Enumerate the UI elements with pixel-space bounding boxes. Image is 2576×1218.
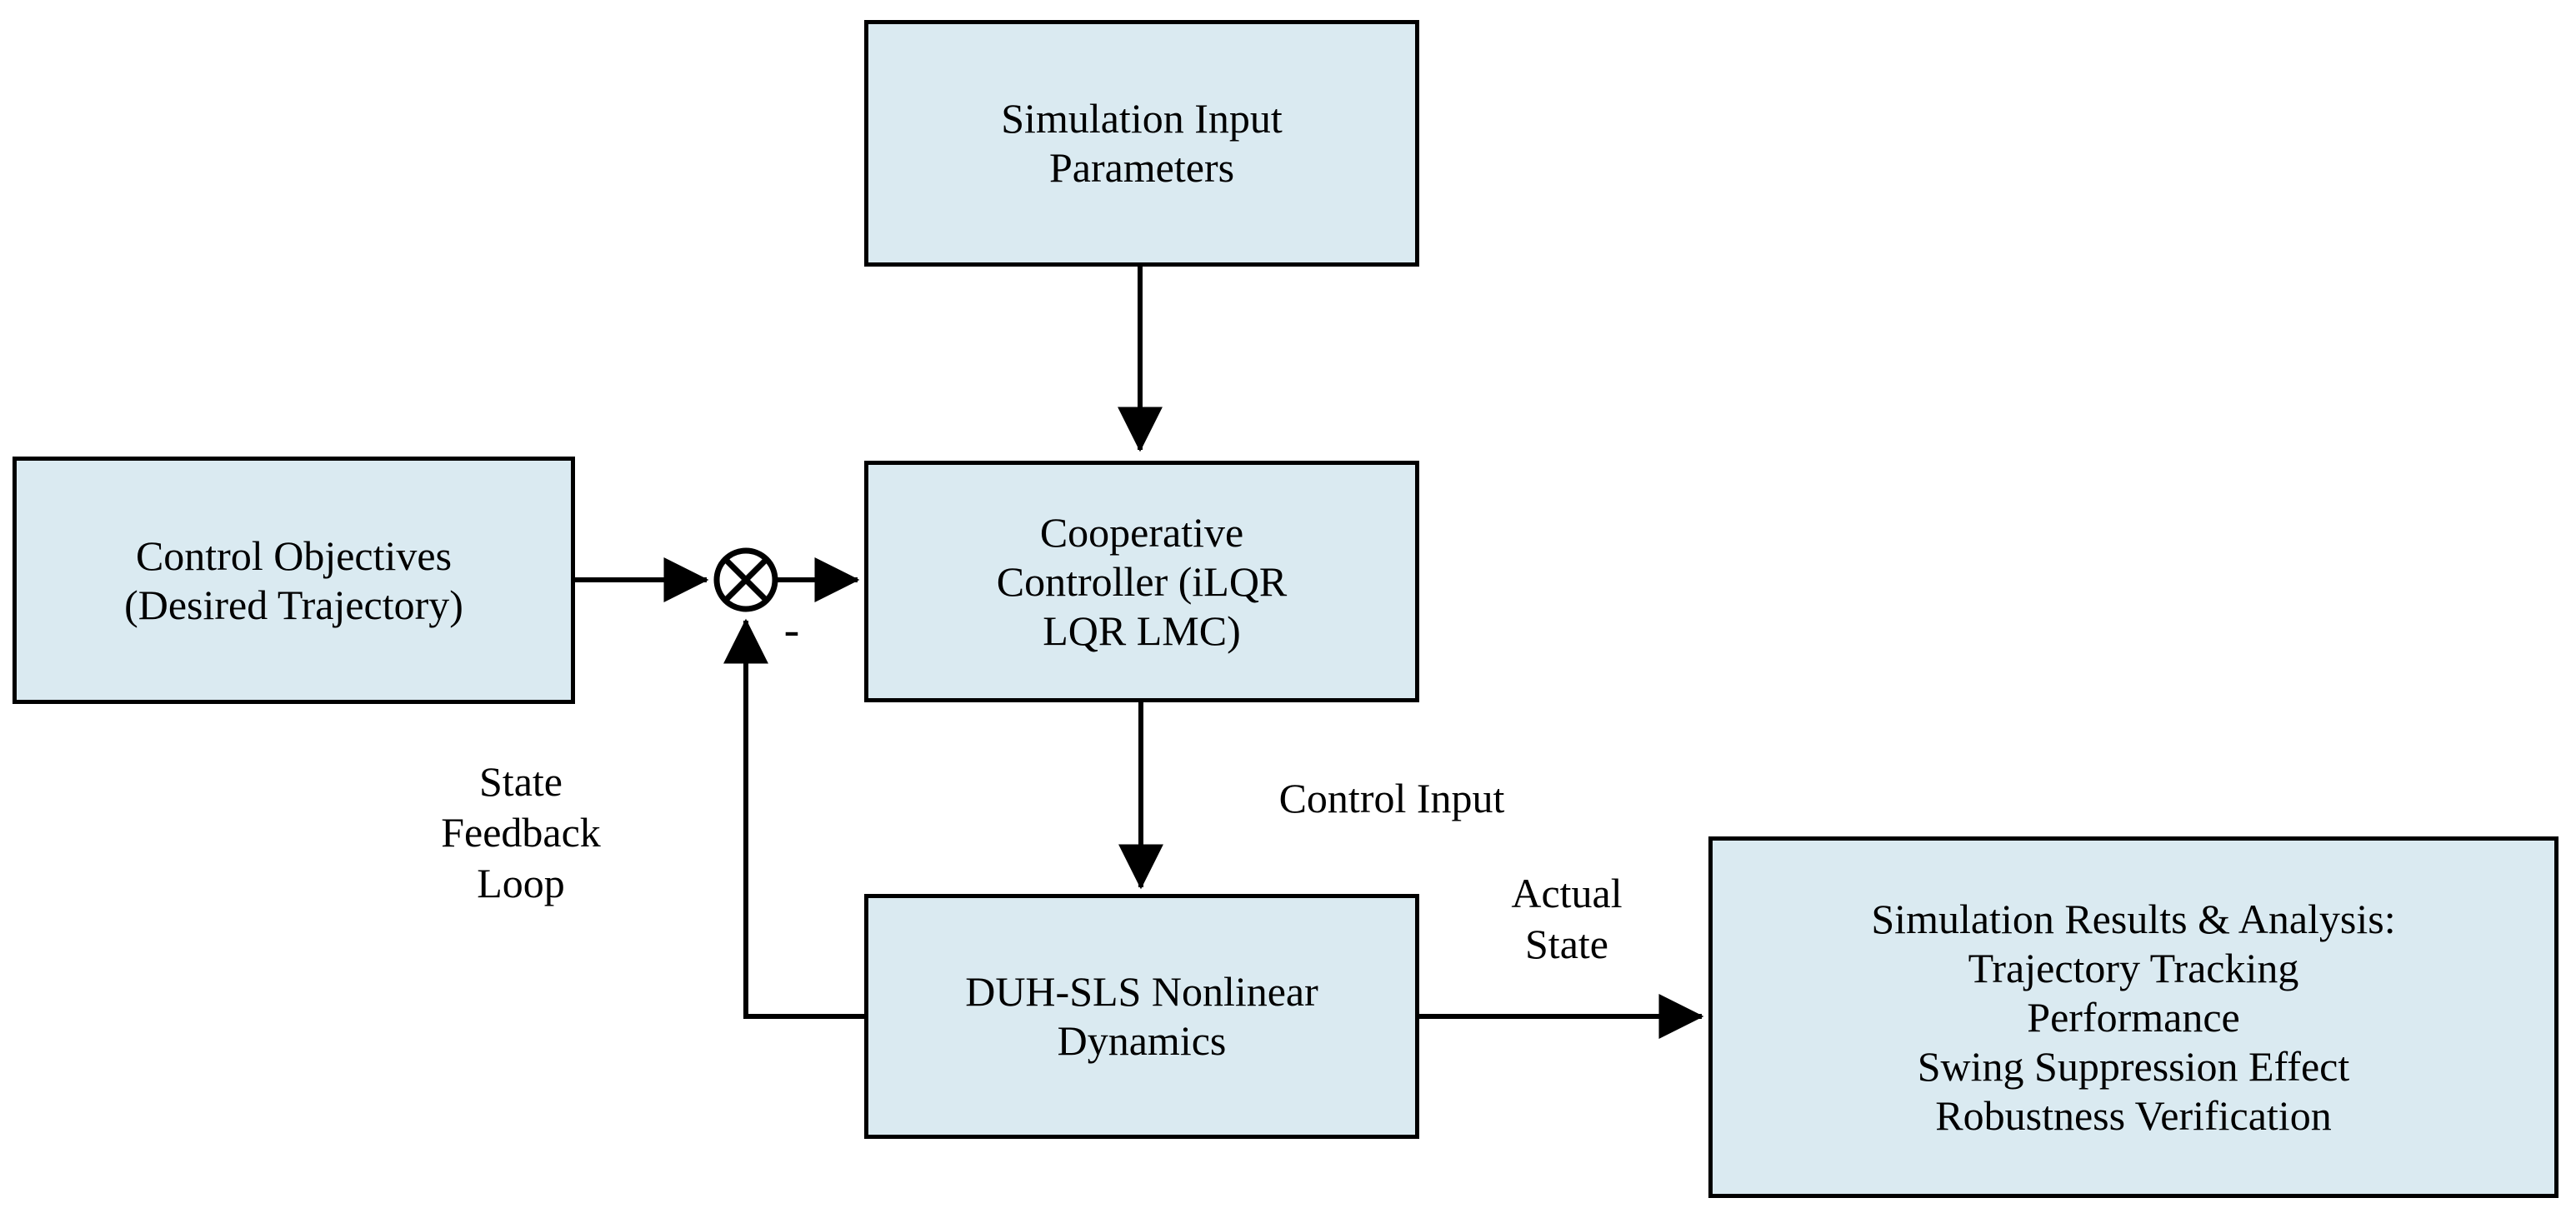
label-control-input: Control Input — [1183, 773, 1600, 824]
block-simulation-input-parameters[interactable]: Simulation Input Parameters — [864, 20, 1419, 267]
block-simulation-results-analysis[interactable]: Simulation Results & Analysis: Trajector… — [1708, 836, 2558, 1198]
block-duh-sls-nonlinear-dynamics[interactable]: DUH-SLS Nonlinear Dynamics — [864, 894, 1419, 1139]
connector-feedback-loop — [746, 621, 864, 1016]
block-cooperative-controller[interactable]: Cooperative Controller (iLQR LQR LMC) — [864, 461, 1419, 702]
summing-junction-symbol — [717, 551, 775, 609]
label-sum-minus-sign: - — [767, 602, 817, 658]
block-diagram-canvas: Simulation Input Parameters Control Obje… — [0, 0, 2576, 1218]
block-control-objectives[interactable]: Control Objectives (Desired Trajectory) — [13, 457, 575, 704]
label-actual-state: Actual State — [1467, 868, 1667, 970]
label-state-feedback-loop: State Feedback Loop — [392, 756, 650, 909]
